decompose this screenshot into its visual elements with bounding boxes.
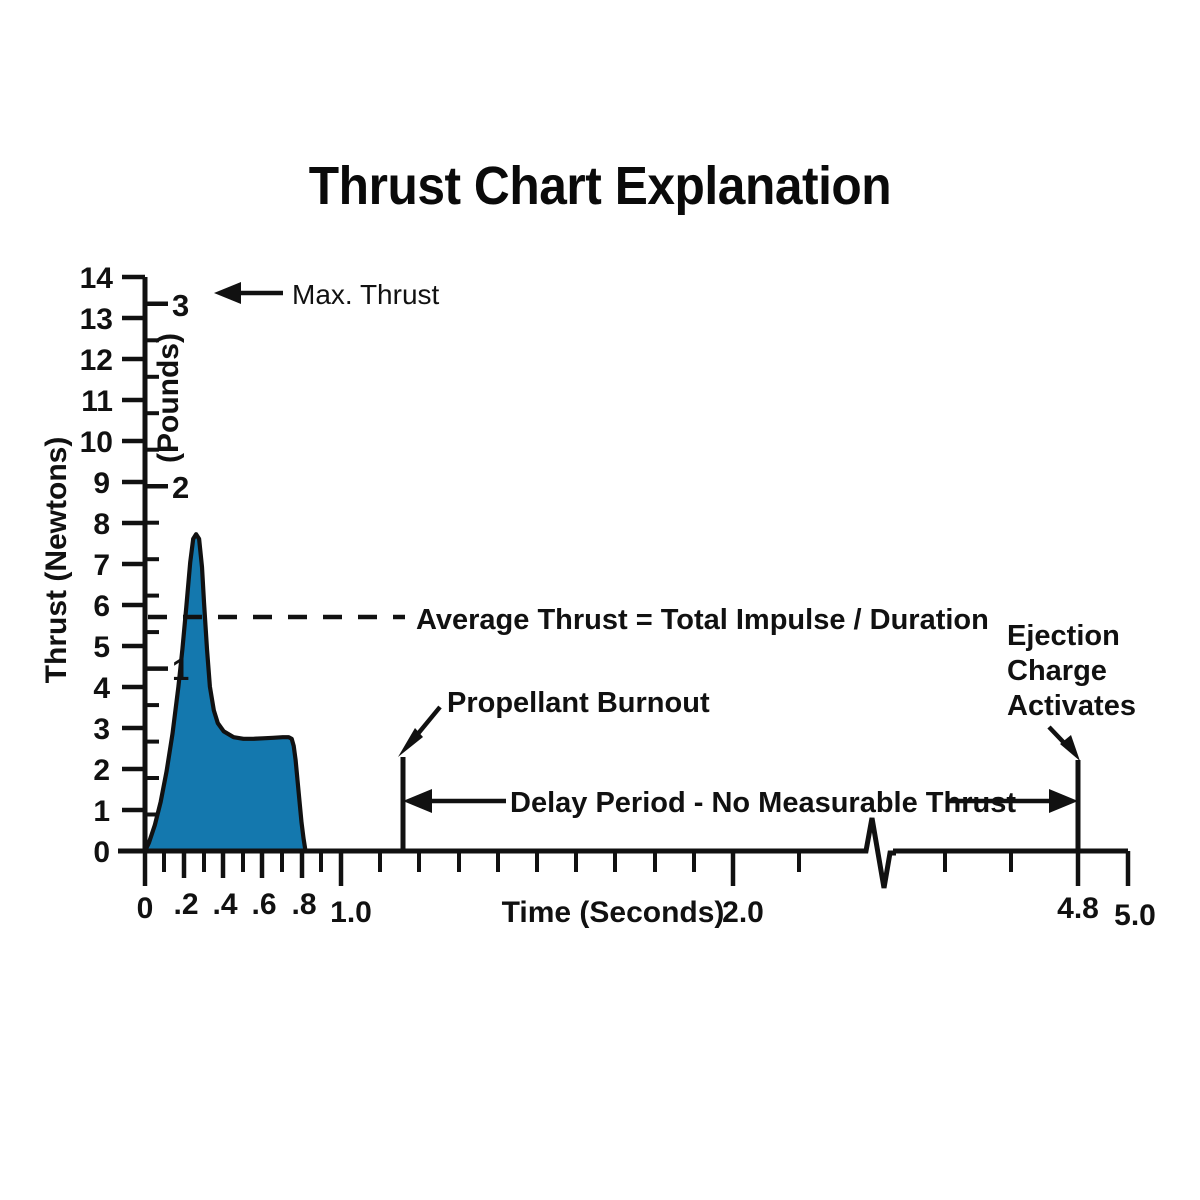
max-thrust-arrow-head bbox=[214, 282, 241, 304]
y-tick-label-7: 7 bbox=[93, 549, 110, 582]
y-tick-label-3: 3 bbox=[93, 713, 110, 746]
y-axis-title-newtons: Thrust (Newtons) bbox=[40, 437, 73, 684]
propellant-burnout-annotation: Propellant Burnout bbox=[398, 687, 710, 757]
y-axis-newton-labels: 0 1 2 3 4 5 6 7 8 9 10 11 12 13 14 bbox=[80, 262, 114, 869]
y-axis-newton-ticks bbox=[122, 277, 145, 851]
x-tick-label-06: .6 bbox=[251, 888, 276, 921]
delay-period-annotation: Delay Period - No Measurable Thrust bbox=[403, 787, 1078, 819]
y-tick-label-5: 5 bbox=[93, 631, 110, 664]
ejection-charge-label-line2: Charge bbox=[1007, 655, 1107, 687]
y-tick-label-1: 1 bbox=[93, 795, 110, 828]
y-pound-label-2: 2 bbox=[172, 470, 189, 505]
x-tick-label-50: 5.0 bbox=[1114, 899, 1156, 932]
y-tick-label-10: 10 bbox=[80, 426, 113, 459]
thrust-curve-chart: 0 1 2 3 4 5 6 7 8 9 10 11 12 13 14 bbox=[0, 0, 1200, 1200]
x-axis-ticks bbox=[145, 851, 1128, 886]
x-tick-label-10: 1.0 bbox=[330, 896, 372, 929]
x-tick-label-20: 2.0 bbox=[722, 896, 764, 929]
axis-break-zigzag bbox=[862, 818, 896, 888]
y-axis-title-pounds: (Pounds) bbox=[152, 333, 185, 463]
y-tick-label-13: 13 bbox=[80, 303, 113, 336]
y-tick-label-4: 4 bbox=[93, 672, 110, 705]
x-tick-label-02: .2 bbox=[173, 888, 198, 921]
x-axis-title: Time (Seconds) bbox=[502, 896, 725, 929]
ejection-charge-label-line3: Activates bbox=[1007, 690, 1136, 722]
y-tick-label-9: 9 bbox=[93, 467, 110, 500]
y-pound-label-1: 1 bbox=[172, 652, 189, 687]
propellant-burnout-label: Propellant Burnout bbox=[447, 687, 710, 719]
y-tick-label-6: 6 bbox=[93, 590, 110, 623]
delay-period-arrow-head-left bbox=[403, 789, 432, 813]
y-tick-label-11: 11 bbox=[81, 385, 113, 418]
y-tick-label-0: 0 bbox=[93, 836, 110, 869]
y-tick-label-8: 8 bbox=[93, 508, 110, 541]
y-tick-label-14: 14 bbox=[80, 262, 114, 295]
x-tick-label-48: 4.8 bbox=[1057, 892, 1099, 925]
delay-period-label: Delay Period - No Measurable Thrust bbox=[510, 787, 1016, 819]
thrust-chart-figure: Thrust Chart Explanation bbox=[0, 0, 1200, 1200]
x-tick-label-08: .8 bbox=[291, 888, 316, 921]
thrust-curve-area bbox=[145, 534, 306, 851]
x-tick-label-0: 0 bbox=[137, 892, 154, 925]
delay-period-arrow-head-right bbox=[1049, 789, 1078, 813]
ejection-charge-annotation: Ejection Charge Activates bbox=[1007, 620, 1136, 761]
max-thrust-label: Max. Thrust bbox=[292, 279, 440, 310]
y-pound-label-3: 3 bbox=[172, 288, 189, 323]
average-thrust-label: Average Thrust = Total Impulse / Duratio… bbox=[416, 604, 989, 636]
max-thrust-annotation: Max. Thrust bbox=[214, 279, 440, 310]
ejection-charge-label-line1: Ejection bbox=[1007, 620, 1120, 652]
y-tick-label-12: 12 bbox=[80, 344, 113, 377]
x-tick-label-04: .4 bbox=[212, 888, 237, 921]
y-tick-label-2: 2 bbox=[93, 754, 110, 787]
